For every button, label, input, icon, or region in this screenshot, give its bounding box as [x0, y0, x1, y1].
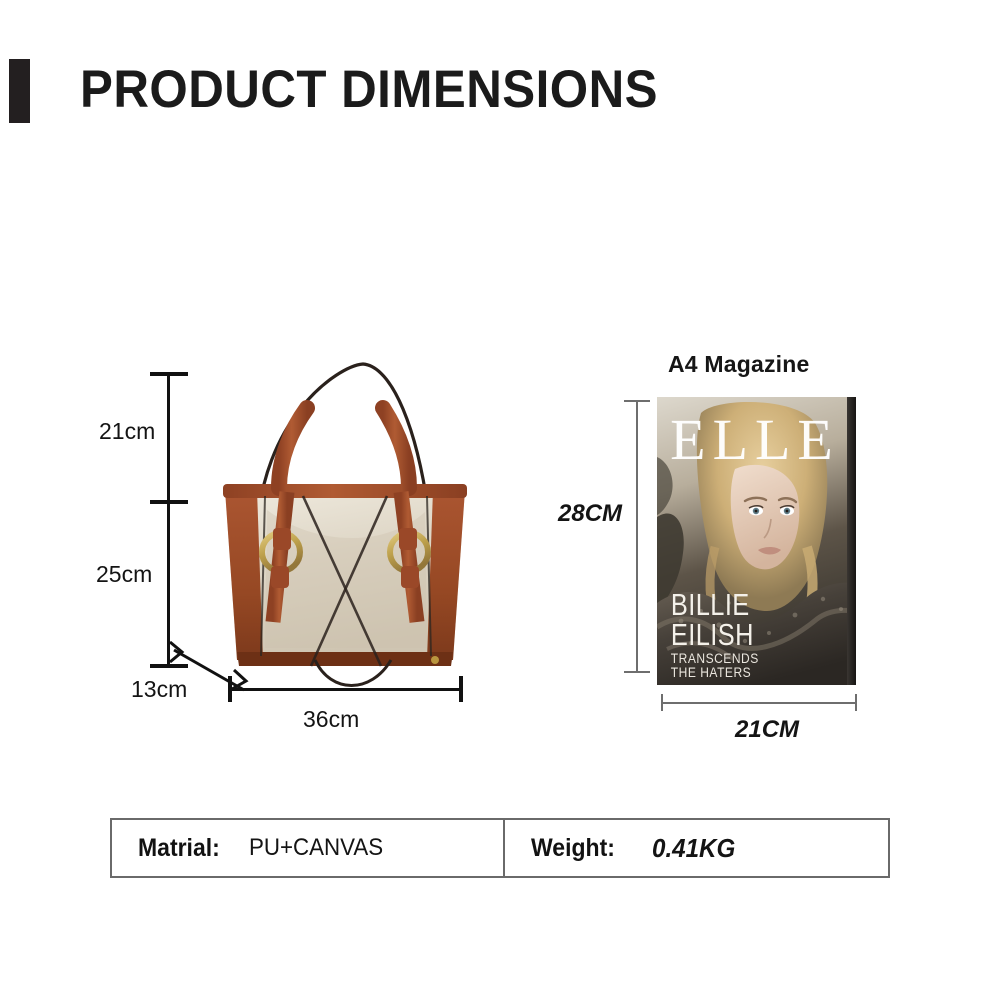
page-title: PRODUCT DIMENSIONS — [80, 57, 658, 123]
product-dimensions-infographic: PRODUCT DIMENSIONS 21cm 25cm 13cm 36cm — [0, 0, 1000, 1000]
spec-weight-value: 0.41KG — [652, 833, 735, 864]
magazine-subhead-line2: THE HATERS — [671, 664, 751, 680]
bag-height-upper-rule — [167, 372, 170, 502]
handbag-illustration — [195, 360, 495, 690]
title-accent-bar — [9, 59, 30, 123]
magazine-height-rule — [636, 400, 638, 673]
spec-row-material: Matrial: PU+CANVAS — [112, 820, 505, 876]
magazine-headline-line2: EILISH — [671, 618, 754, 653]
spec-material-value: PU+CANVAS — [249, 834, 383, 862]
magazine-title: A4 Magazine — [668, 351, 810, 378]
magazine-cover-image: ELLE BILLIE EILISH TRANSCENDS THE HATERS — [657, 397, 859, 685]
spec-row-weight: Weight: 0.41KG — [505, 820, 888, 876]
magazine-width-left-cap — [661, 694, 663, 711]
magazine-height-label: 28CM — [558, 500, 622, 527]
spec-weight-key: Weight: — [531, 834, 615, 863]
bag-height-upper-label: 21cm — [99, 418, 155, 445]
bag-width-label: 36cm — [303, 706, 359, 733]
bag-depth-label: 13cm — [131, 676, 187, 703]
magazine-width-label: 21CM — [735, 716, 799, 743]
bag-height-lower-label: 25cm — [96, 561, 152, 588]
specification-table: Matrial: PU+CANVAS Weight: 0.41KG — [110, 818, 890, 878]
spec-material-key: Matrial: — [138, 834, 220, 863]
magazine-height-bottom-cap — [624, 671, 650, 673]
magazine-width-right-cap — [855, 694, 857, 711]
magazine-width-rule — [661, 702, 857, 704]
magazine-masthead: ELLE — [670, 407, 840, 472]
